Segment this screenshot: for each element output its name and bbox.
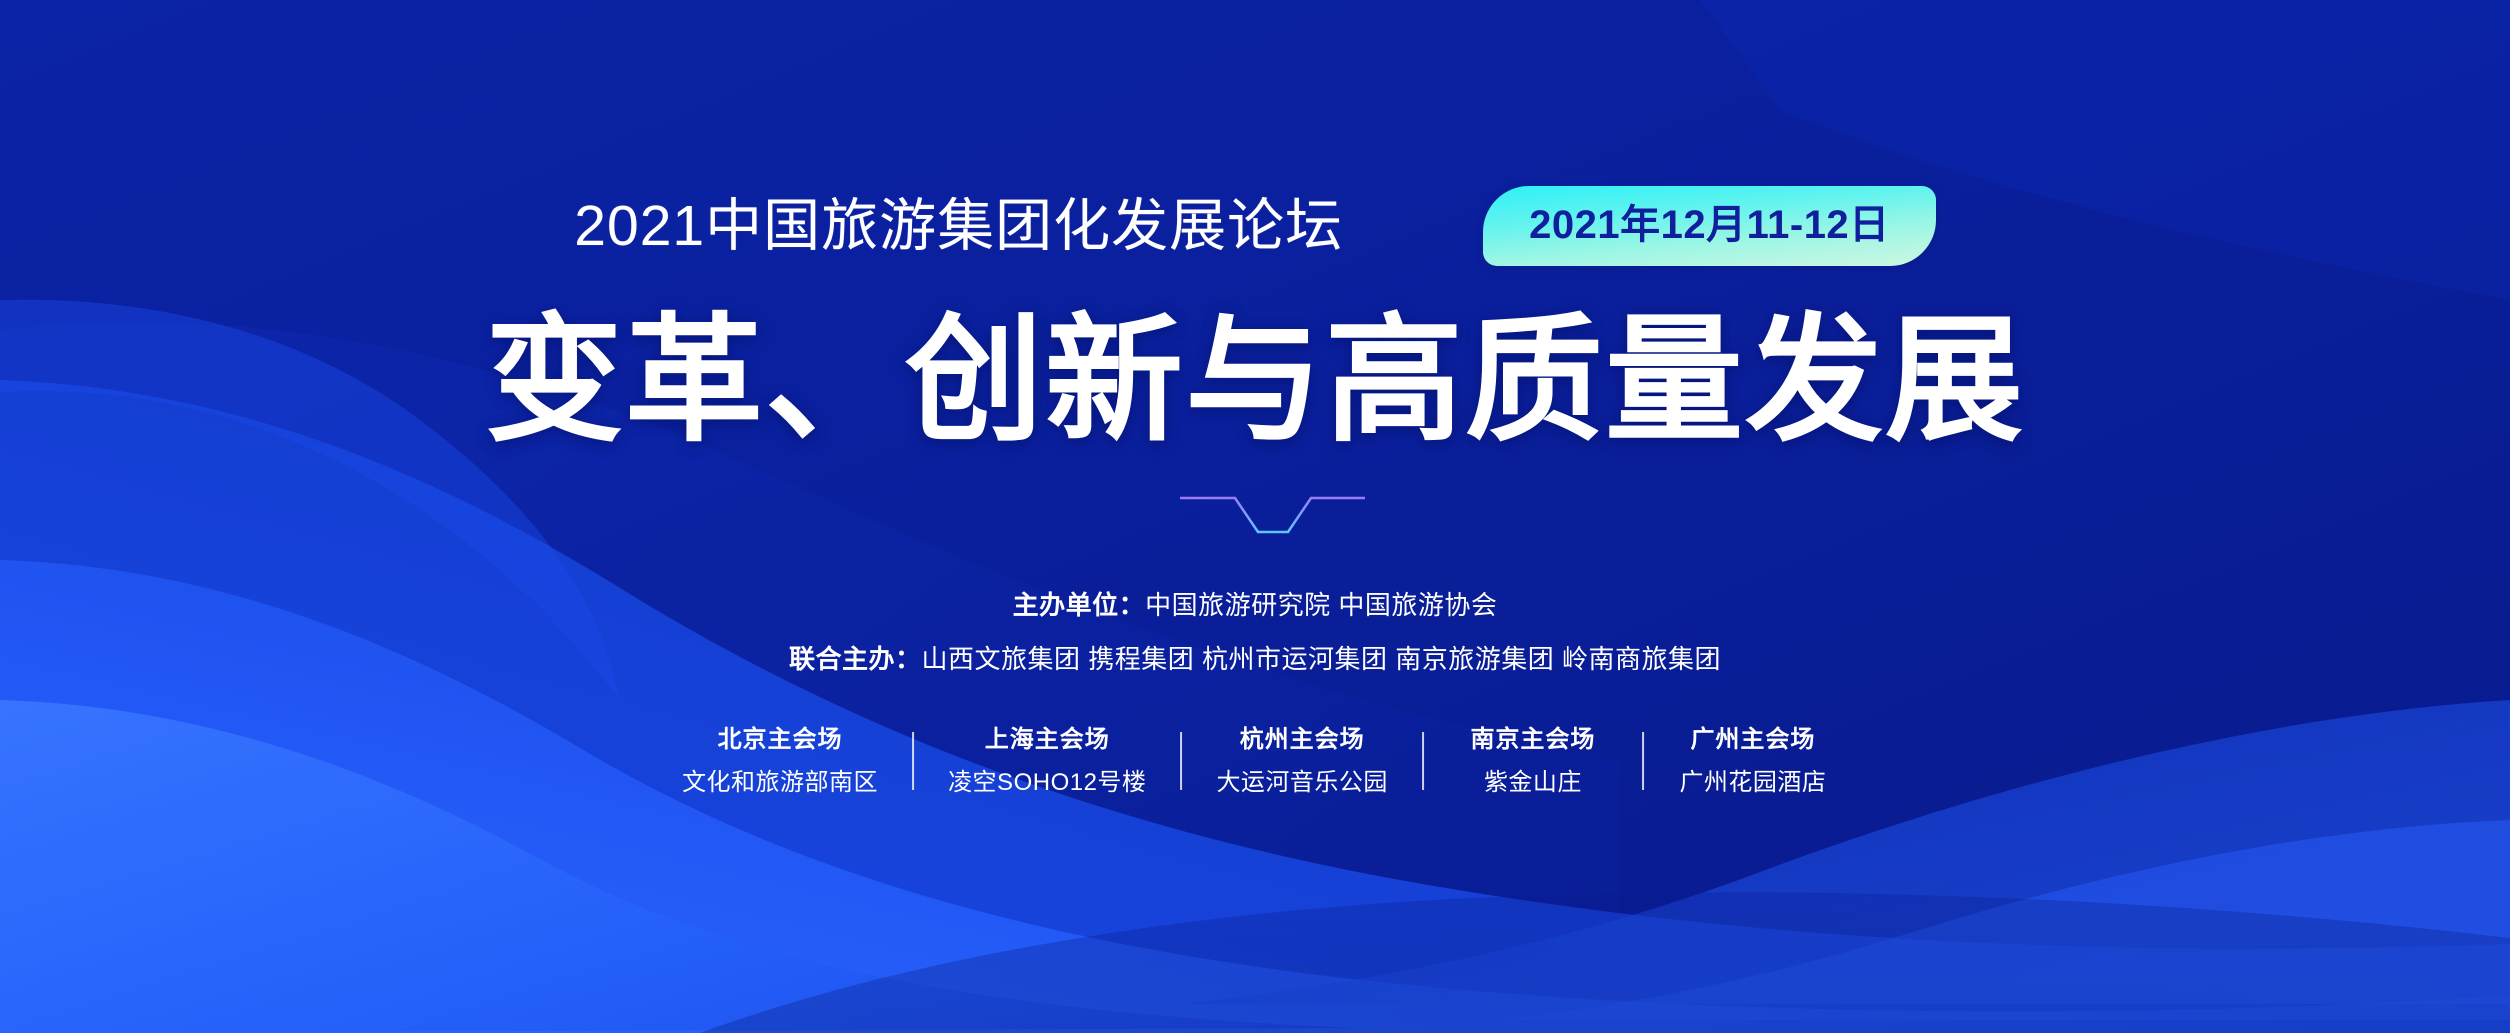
conference-banner: 2021中国旅游集团化发展论坛 2021年12月11-12日 变革、创新与高质量… [0,0,2510,1033]
divider-ornament [675,480,1835,550]
venue-item-beijing: 北京主会场 文化和旅游部南区 [648,728,912,795]
venue-name: 北京主会场 [682,728,878,752]
venue-item-nanjing: 南京主会场 紫金山庄 [1424,728,1642,795]
organizer-label: 主办单位： [1013,590,1146,620]
venue-place: 凌空SOHO12号楼 [948,771,1146,795]
organizers-block: 主办单位：中国旅游研究院 中国旅游协会 联合主办：山西文旅集团 携程集团 杭州市… [0,592,2510,700]
forum-subtitle: 2021中国旅游集团化发展论坛 [574,198,1343,255]
venue-name: 杭州主会场 [1216,728,1388,752]
organizer-value: 中国旅游研究院 中国旅游协会 [1145,590,1497,620]
venue-item-hangzhou: 杭州主会场 大运河音乐公园 [1182,728,1422,795]
venue-name: 广州主会场 [1678,728,1828,752]
venue-item-guangzhou: 广州主会场 广州花园酒店 [1644,728,1862,795]
venue-place: 大运河音乐公园 [1216,771,1388,795]
co-organizer-value: 山西文旅集团 携程集团 杭州市运河集团 南京旅游集团 岭南商旅集团 [922,644,1721,674]
venue-item-shanghai: 上海主会场 凌空SOHO12号楼 [914,728,1180,795]
main-headline: 变革、创新与高质量发展 [0,300,2510,463]
venue-name: 南京主会场 [1458,728,1608,752]
title-row: 2021中国旅游集团化发展论坛 2021年12月11-12日 [0,186,2510,266]
venue-place: 紫金山庄 [1458,771,1608,795]
venue-list: 北京主会场 文化和旅游部南区 上海主会场 凌空SOHO12号楼 杭州主会场 大运… [648,728,1862,795]
organizer-line-co-host: 联合主办：山西文旅集团 携程集团 杭州市运河集团 南京旅游集团 岭南商旅集团 [0,646,2510,672]
venue-place: 广州花园酒店 [1678,771,1828,795]
date-badge: 2021年12月11-12日 [1483,186,1936,266]
venue-place: 文化和旅游部南区 [682,771,878,795]
co-organizer-label: 联合主办： [789,644,922,674]
venue-name: 上海主会场 [948,728,1146,752]
organizer-line-host: 主办单位：中国旅游研究院 中国旅游协会 [0,592,2510,618]
